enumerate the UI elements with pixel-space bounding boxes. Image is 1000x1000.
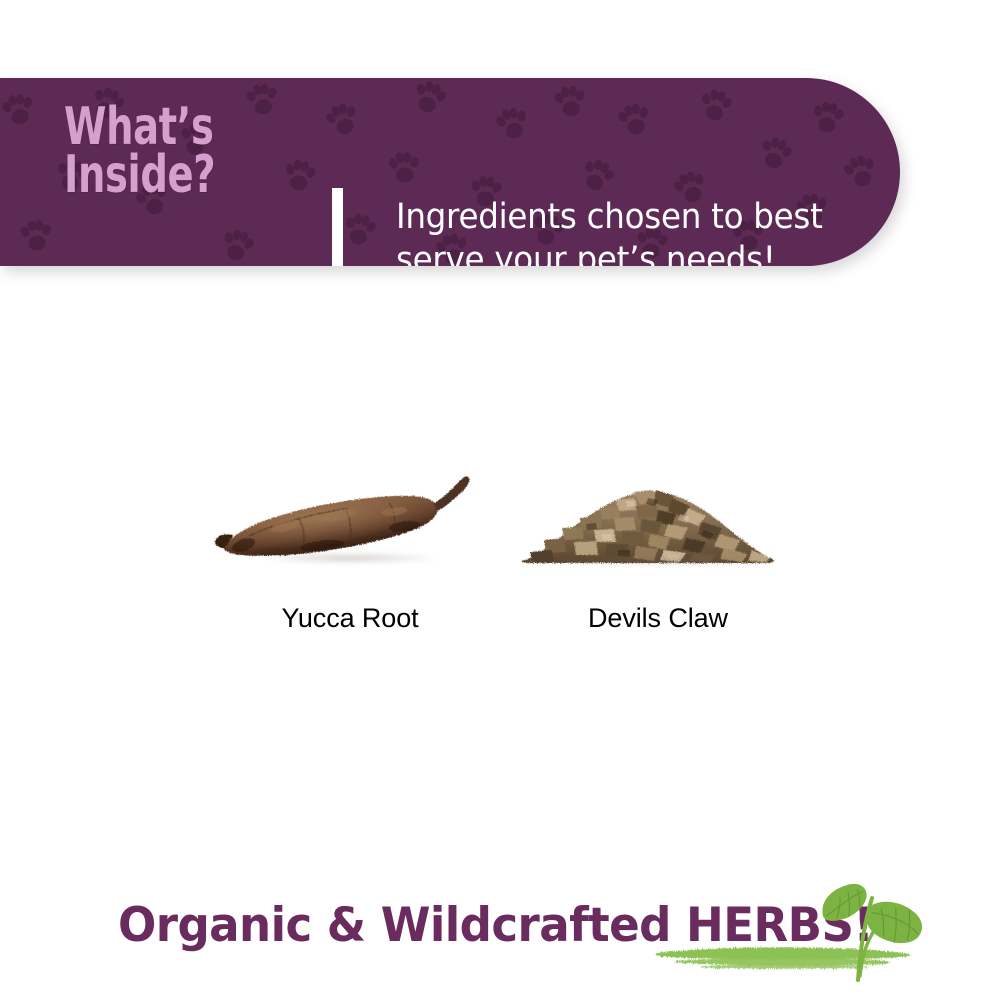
devils-claw-shadow	[556, 554, 766, 566]
devils-claw-photo-icon	[508, 470, 808, 585]
yucca-root-shadow	[260, 552, 440, 564]
banner-title: What’s Inside?	[64, 104, 256, 200]
ingredient-label: Yucca Root	[200, 603, 500, 634]
header-banner: What’s Inside? Ingredients chosen to bes…	[0, 78, 900, 266]
yucca-root-photo-icon	[200, 470, 500, 585]
poster-canvas: What’s Inside? Ingredients chosen to bes…	[0, 0, 1000, 1000]
ingredient-item: Devils Claw	[508, 470, 808, 670]
vertical-divider-bar-icon	[332, 188, 343, 266]
footer: Organic & Wildcrafted HERBS!	[0, 880, 1000, 1000]
ingredients-row: Yucca Root	[0, 470, 1000, 670]
ingredient-item: Yucca Root	[200, 470, 500, 670]
banner-subtitle: Ingredients chosen to best serve your pe…	[396, 196, 842, 266]
ingredient-label: Devils Claw	[508, 603, 808, 634]
footer-tagline: Organic & Wildcrafted HERBS!	[118, 898, 873, 953]
